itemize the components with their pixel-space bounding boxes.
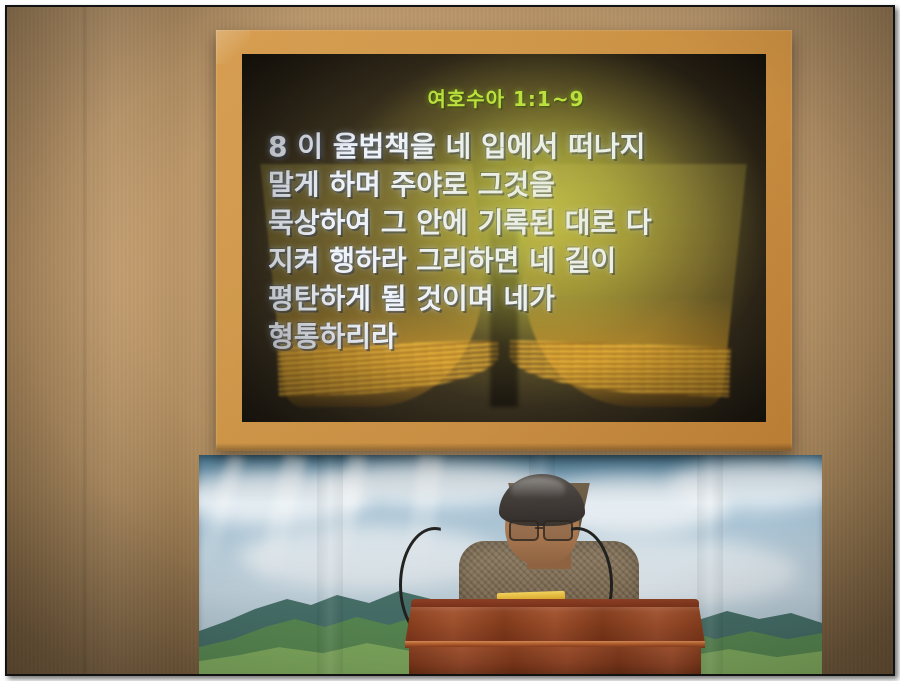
verse-line: 묵상하여 그 안에 기록된 대로 다 [268,204,750,242]
projection-screen-surface: 여호수아 1:1~9 8 이 율법책을 네 입에서 떠나지 말게 하며 주야로 … [242,54,766,422]
wooden-pulpit [405,599,705,674]
verse-line: 8 이 율법책을 네 입에서 떠나지 [268,128,750,166]
verse-line: 말게 하며 주야로 그것을 [268,166,750,204]
slide-verse-body: 8 이 율법책을 네 입에서 떠나지 말게 하며 주야로 그것을 묵상하여 그 … [262,128,750,356]
slide-title-scripture-reference: 여호수아 1:1~9 [262,83,750,112]
projection-screen-bezel: 여호수아 1:1~9 8 이 율법책을 네 입에서 떠나지 말게 하며 주야로 … [242,54,766,422]
sanctuary-scene: 여호수아 1:1~9 8 이 율법책을 네 입에서 떠나지 말게 하며 주야로 … [7,7,893,674]
eyeglasses-left-lens [509,520,539,541]
verse-line: 평탄하게 될 것이며 네가 [268,280,750,318]
photo-inner-border: 여호수아 1:1~9 8 이 율법책을 네 입에서 떠나지 말게 하며 주야로 … [5,5,895,676]
pulpit-base [409,647,701,674]
slide-content: 여호수아 1:1~9 8 이 율법책을 네 입에서 떠나지 말게 하며 주야로 … [242,54,766,422]
verse-line: 형통하리라 [268,318,750,356]
pulpit-front-panel [405,607,705,643]
projection-screen-frame: 여호수아 1:1~9 8 이 율법책을 네 입에서 떠나지 말게 하며 주야로 … [216,30,792,451]
verse-line: 지켜 행하라 그리하면 네 길이 [268,242,750,280]
photo-border: 여호수아 1:1~9 8 이 율법책을 네 입에서 떠나지 말게 하며 주야로 … [0,0,900,681]
eyeglasses-right-lens [543,520,573,541]
speaker-grey-hair-highlight [511,477,565,499]
eyeglasses-bridge [535,527,543,529]
